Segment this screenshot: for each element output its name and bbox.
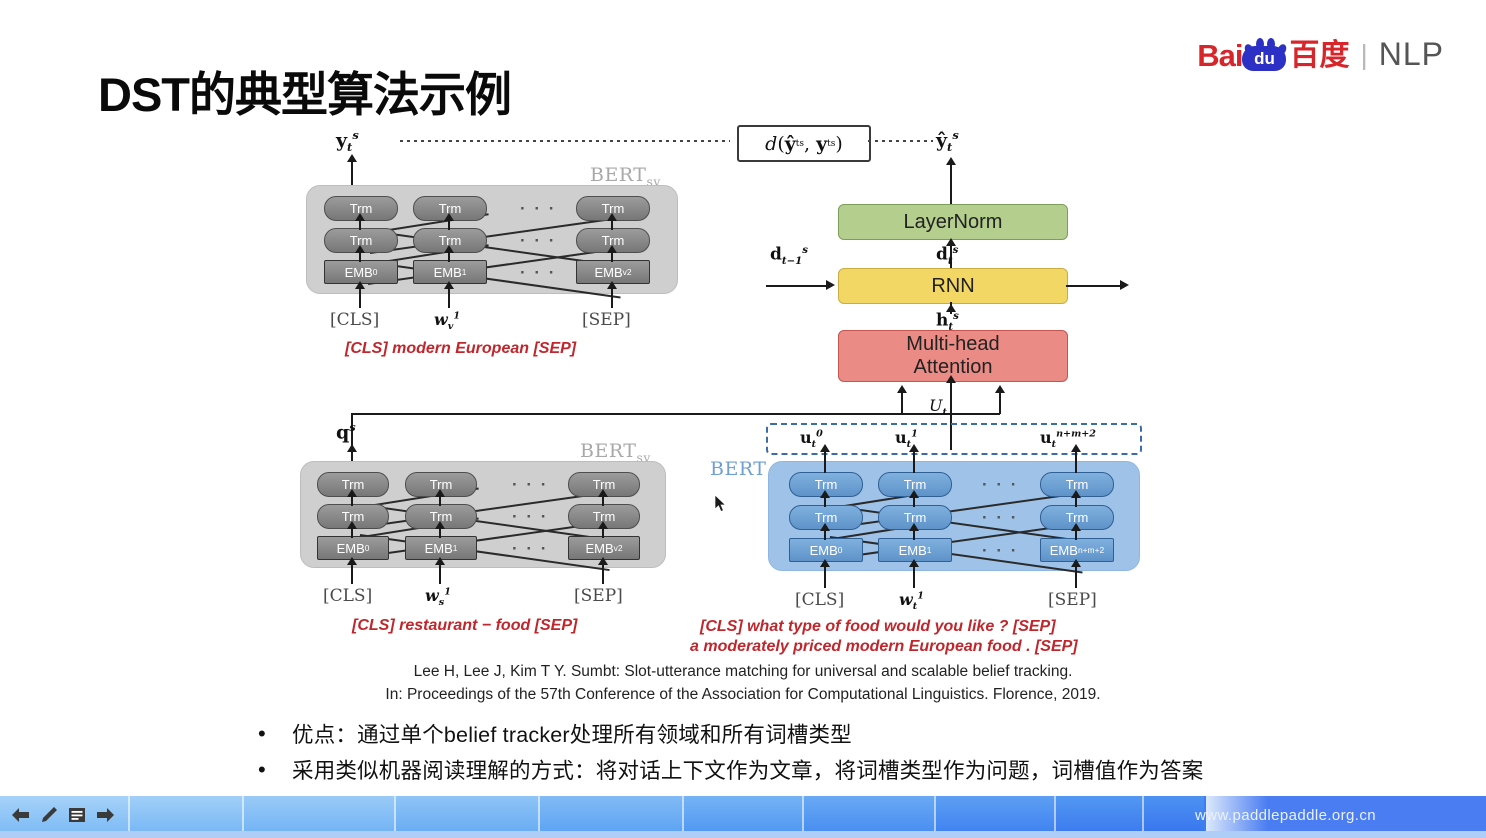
logo-du-text: du [1242,46,1286,71]
qs-connector-h [351,413,901,415]
ellipsis-dots: · · · [512,507,548,527]
layernorm-box: LayerNorm [838,204,1068,240]
token-cls-bottom-left: [CLS] [323,586,372,606]
arrowhead-yhat-up [946,157,956,165]
arrowhead-y-up [347,154,357,162]
token-w-v-top: wv1 [434,310,460,332]
citation-line-1: Lee H, Lee J, Kim T Y. Sumbt: Slot-utter… [0,660,1486,683]
paddlepaddle-url[interactable]: www.paddlepaddle.org.cn [1195,807,1376,824]
label-q-s: qs [336,420,356,443]
rnn-box: RNN [838,268,1068,304]
mouse-cursor [714,494,728,519]
token-w-t-bottom-right: wt1 [899,590,924,612]
citation-block: Lee H, Lee J, Kim T Y. Sumbt: Slot-utter… [0,660,1486,707]
baidu-logo: Bai du 百度 [1197,38,1349,71]
distance-loss-box: d(ŷts, yts) [737,125,871,162]
slot-sentence-top: [CLS] modern European [SEP] [345,340,576,358]
label-d-t-prev: dt−1s [770,244,808,267]
token-w-s-bottom-left: ws1 [425,586,451,608]
bullet-list: • 优点：通过单个belief tracker处理所有领域和所有词槽类型 • 采… [258,722,1438,794]
label-yhat-t-s: ŷts [936,128,959,154]
bullet-text: 优点：通过单个belief tracker处理所有领域和所有词槽类型 [292,722,852,749]
logo-chinese-text: 百度 [1289,41,1349,71]
ellipsis-dots: · · · [982,541,1018,561]
baidu-nlp-logo: Bai du 百度 | NLP [1197,36,1444,73]
label-d-t-s: dts [936,244,958,267]
architecture-diagram: yts BERTsv Trm Trm · · · Trm Trm Trm · ·… [0,120,1486,680]
ellipsis-dots: · · · [512,539,548,559]
rnn-out-arrow [1066,285,1124,287]
menu-icon[interactable] [64,802,89,828]
ellipsis-dots: · · · [982,475,1018,495]
dialogue-sentence-line2: a moderately priced modern European food… [690,638,1078,656]
label-y-t-s: yts [336,128,359,154]
label-u-t: Ut [929,396,947,418]
dotted-connector-loss [868,140,933,142]
forward-arrow-icon[interactable] [92,802,117,828]
ellipsis-dots: · · · [520,199,556,219]
presentation-slide: DST的典型算法示例 Bai du 百度 | NLP yts BERTsv [0,0,1486,796]
bert-label-blue: BERT [710,458,766,480]
ellipsis-dots: · · · [982,508,1018,528]
token-cls-top: [CLS] [330,310,379,330]
slot-sentence-bottom-left: [CLS] restaurant − food [SEP] [352,617,577,635]
ellipsis-dots: · · · [512,475,548,495]
ellipsis-dots: · · · [520,231,556,251]
dotted-connector-top [400,140,730,142]
pen-icon[interactable] [36,802,61,828]
ellipsis-dots: · · · [520,263,556,283]
page-title: DST的典型算法示例 [98,56,511,125]
label-u-t-n: utn+m+2 [1040,428,1096,450]
citation-line-2: In: Proceedings of the 57th Conference o… [0,683,1486,706]
bullet-text: 采用类似机器阅读理解的方式：将对话上下文作为文章，将词槽类型作为问题，词槽值作为… [292,758,1203,785]
toolbar-nav-icons[interactable] [8,802,117,828]
attention-line-1: Multi-head [906,333,999,355]
back-arrow-icon[interactable] [8,802,33,828]
token-sep-top: [SEP] [582,310,631,330]
logo-nlp-text: NLP [1379,36,1444,73]
logo-bai-text: Bai [1197,40,1242,71]
rnn-in-arrow [766,285,828,287]
dialogue-sentence-line1: [CLS] what type of food would you like ?… [700,618,1056,636]
logo-separator: | [1360,39,1367,71]
baidu-paw-icon: du [1242,38,1286,71]
bottom-toolbar[interactable]: www.paddlepaddle.org.cn [0,796,1486,838]
token-sep-bottom-left: [SEP] [574,586,623,606]
token-sep-bottom-right: [SEP] [1048,590,1097,610]
bullet-marker: • [258,758,292,782]
token-cls-bottom-right: [CLS] [795,590,844,610]
list-item: • 采用类似机器阅读理解的方式：将对话上下文作为文章，将词槽类型作为问题，词槽值… [258,758,1438,785]
list-item: • 优点：通过单个belief tracker处理所有领域和所有词槽类型 [258,722,1438,749]
bullet-marker: • [258,722,292,746]
